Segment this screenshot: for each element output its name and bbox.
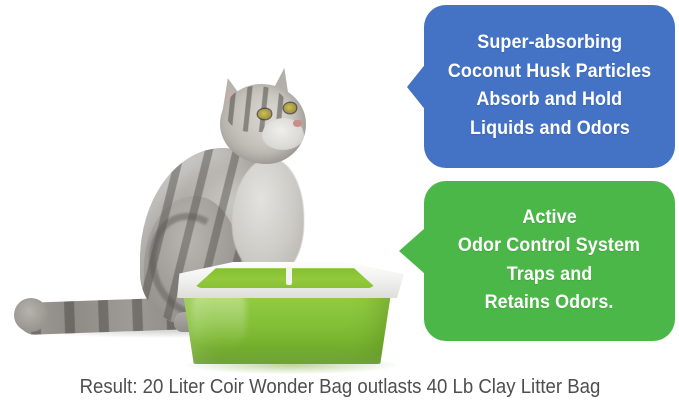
- cat-chest: [232, 158, 304, 276]
- product-feature-graphic: Super-absorbing Coconut Husk Particles A…: [0, 0, 679, 409]
- callout-blue-line-4: Liquids and Odors: [469, 119, 629, 139]
- litter-box-interior: [194, 266, 376, 288]
- callout-green-tail: [399, 228, 425, 274]
- product-photo: [0, 0, 420, 372]
- result-caption: Result: 20 Liter Coir Wonder Bag outlast…: [0, 376, 679, 398]
- callout-blue-line-1: Super-absorbing: [477, 33, 622, 53]
- callout-blue-line-3: Absorb and Hold: [477, 90, 623, 110]
- cat-nose: [293, 120, 302, 127]
- result-caption-text: Result: 20 Liter Coir Wonder Bag outlast…: [79, 376, 600, 398]
- cat-left-eye: [258, 109, 271, 119]
- callout-green-line-2: Odor Control System: [458, 236, 640, 256]
- callout-green-line-1: Active: [522, 208, 576, 228]
- callout-blue: Super-absorbing Coconut Husk Particles A…: [424, 5, 675, 168]
- callout-blue-line-2: Coconut Husk Particles: [448, 62, 651, 82]
- callout-green-line-3: Traps and: [507, 265, 593, 285]
- callout-green: Active Odor Control System Traps and Ret…: [424, 181, 675, 341]
- callout-green-line-4: Retains Odors.: [485, 293, 614, 313]
- litter-box-rim-divider: [286, 267, 292, 285]
- cat-tail-tip: [14, 298, 48, 332]
- cat-right-eye: [284, 103, 296, 113]
